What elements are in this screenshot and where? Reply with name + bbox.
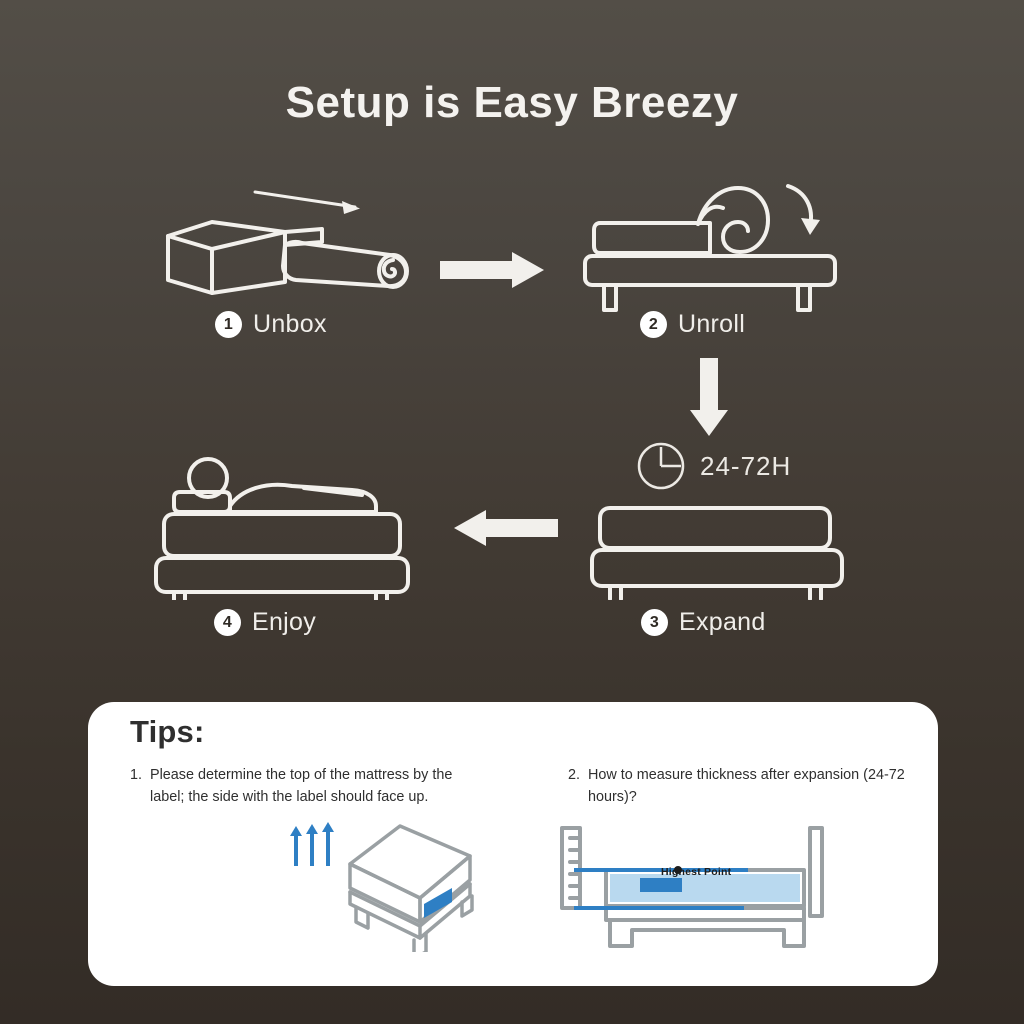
tip-item-2: 2. How to measure thickness after expans… [568,764,918,809]
step-4-number: 4 [214,609,241,636]
step-4-illustration [152,452,422,605]
step-4-label: 4 Enjoy [214,608,316,637]
up-arrows-icon [290,822,334,866]
step-1-label: 1 Unbox [215,310,327,339]
mattress-label-tag-icon [640,878,682,892]
expansion-time-text: 24-72H [700,451,791,482]
infographic-page: Setup is Easy Breezy 1 Unbox [0,0,1024,1024]
tip-item-1: 1. Please determine the top of the mattr… [130,764,480,809]
highest-point-label: Highest Point [661,866,731,878]
step-3-number: 3 [641,609,668,636]
step-3-illustration [588,500,848,605]
tip-1-text: Please determine the top of the mattress… [150,764,480,809]
tips-card: Tips: 1. Please determine the top of the… [88,702,938,986]
step-1-number: 1 [215,311,242,338]
step-2-illustration [580,178,850,318]
tip-1-marker: 1. [130,764,150,809]
step-3-text: Expand [679,608,766,637]
step-1-text: Unbox [253,310,327,339]
step-2-label: 2 Unroll [640,310,745,339]
clock-icon [636,441,686,491]
tip-1-diagram [238,812,488,957]
mattress-fill [610,874,800,902]
tip-2-text: How to measure thickness after expansion… [588,764,918,809]
step-3-label: 3 Expand [641,608,766,637]
arrow-step2-to-step3 [686,358,732,443]
step-2-text: Unroll [678,310,745,339]
tip-2-diagram [548,824,838,957]
expansion-time-indicator: 24-72H [636,441,791,491]
tips-heading: Tips: [130,714,205,750]
arrow-step3-to-step4 [448,508,558,553]
arrow-step1-to-step2 [440,250,550,295]
page-title: Setup is Easy Breezy [0,78,1024,128]
step-4-text: Enjoy [252,608,316,637]
step-1-illustration [150,180,440,315]
tip-2-marker: 2. [568,764,588,809]
step-2-number: 2 [640,311,667,338]
